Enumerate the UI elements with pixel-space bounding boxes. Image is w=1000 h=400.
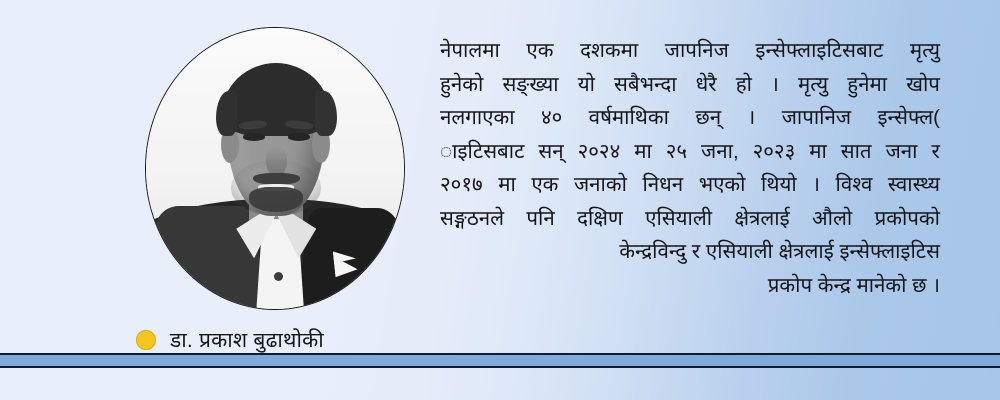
quote-line: नलगाएका४०वर्षमाथिकाछन्।जापानिजइन्सेफ्ल( [440, 101, 940, 135]
quote-word: भएको [699, 168, 746, 202]
quote-word: छन् [695, 101, 721, 135]
photo-eye-left [243, 133, 265, 140]
quote-word: जना, [701, 135, 739, 169]
byline: डा. प्रकाश बुढाथोकी [136, 326, 324, 354]
quote-word: २०२४ [578, 135, 621, 169]
quote-word: जना [886, 135, 918, 169]
quote-text: नेपालमाएकदशकमाजापनिजइन्सेफ्लाइटिसबाटमृत्… [440, 34, 940, 302]
quote-word: र [931, 135, 939, 169]
quote-word: विश्व [836, 168, 873, 202]
quote-word: । [771, 68, 779, 102]
quote-word: पनि [526, 202, 554, 236]
quote-word: इन्सेफ्ल( [877, 101, 939, 135]
quote-word: एक [526, 34, 553, 68]
quote-word: औलो [812, 202, 852, 236]
quote-word: सन् [538, 135, 563, 169]
bullet-circle-icon [136, 330, 156, 350]
quote-word: इन्सेफ्लाइटिसबाट [755, 34, 883, 68]
quote-word: सबैभन्दा [614, 68, 677, 102]
quote-word: सात [841, 135, 872, 169]
quote-word: । [748, 101, 756, 135]
quote-word: यो [578, 68, 595, 102]
quote-word: हुनेको [440, 68, 483, 102]
quote-card: डा. प्रकाश बुढाथोकी नेपालमाएकदशकमाजापनिज… [0, 0, 1000, 400]
quote-word: धेरै [696, 68, 717, 102]
quote-line: नेपालमाएकदशकमाजापनिजइन्सेफ्लाइटिसबाटमृत्… [440, 34, 940, 68]
quote-word: दशकमा [580, 34, 638, 68]
photo-lapel-badge [352, 287, 363, 298]
quote-word: २५ [666, 135, 687, 169]
portrait-circle-frame [145, 27, 405, 310]
quote-word: नेपालमा [440, 34, 500, 68]
quote-word: खोप [906, 68, 940, 102]
quote-word: हुनेमा [847, 68, 887, 102]
quote-word: २०२३ [753, 135, 796, 169]
quote-line: हुनेकोसङ्ख्यायोसबैभन्दाधेरैहो।मृत्युहुने… [440, 68, 940, 102]
quote-word: जनाको [574, 168, 627, 202]
quote-word: ४० [541, 101, 562, 135]
quote-word: जापनिज [665, 34, 729, 68]
quote-word: ाइटिसबाट [440, 135, 524, 169]
quote-word: एसियाली [645, 202, 712, 236]
quote-word: सङ्गठनले [440, 202, 504, 236]
quote-word: मा [498, 168, 516, 202]
quote-word: एक [531, 168, 558, 202]
quote-word: मृत्यु [798, 68, 828, 102]
quote-line: सङ्गठनलेपनिदक्षिणएसियालीक्षेत्रलाईऔलोप्र… [440, 202, 940, 236]
quote-word: वर्षमाथिका [589, 101, 669, 135]
quote-word: सङ्ख्या [502, 68, 558, 102]
quote-word: निधन [642, 168, 683, 202]
portrait [145, 27, 405, 310]
photo-eye-right [288, 133, 310, 140]
quote-word: स्वास्थ्य [888, 168, 940, 202]
byline-name: डा. प्रकाश बुढाथोकी [170, 326, 324, 354]
quote-line: केन्द्रविन्दु र एसियाली क्षेत्रलाई इन्से… [440, 235, 940, 269]
quote-line: २०१७माएकजनाकोनिधनभएकोथियो।विश्वस्वास्थ्य [440, 168, 940, 202]
quote-word: । [812, 168, 820, 202]
portrait-photo [146, 28, 404, 309]
quote-word: मा [809, 135, 827, 169]
quote-word: जापानिज [782, 101, 851, 135]
quote-word: प्रकोपको [875, 202, 940, 236]
quote-word: मृत्यु [910, 34, 940, 68]
quote-line: ाइटिसबाटसन्२०२४मा२५जना,२०२३मासातजनार [440, 135, 940, 169]
quote-word: नलगाएका [440, 101, 515, 135]
quote-word: हो [736, 68, 752, 102]
accent-divider-band [0, 353, 1000, 368]
quote-word: क्षेत्रलाई [734, 202, 789, 236]
quote-line: प्रकोप केन्द्र मानेको छ । [440, 269, 940, 303]
quote-word: २०१७ [440, 168, 483, 202]
quote-word: थियो [761, 168, 797, 202]
quote-word: दक्षिण [577, 202, 623, 236]
quote-word: मा [634, 135, 652, 169]
